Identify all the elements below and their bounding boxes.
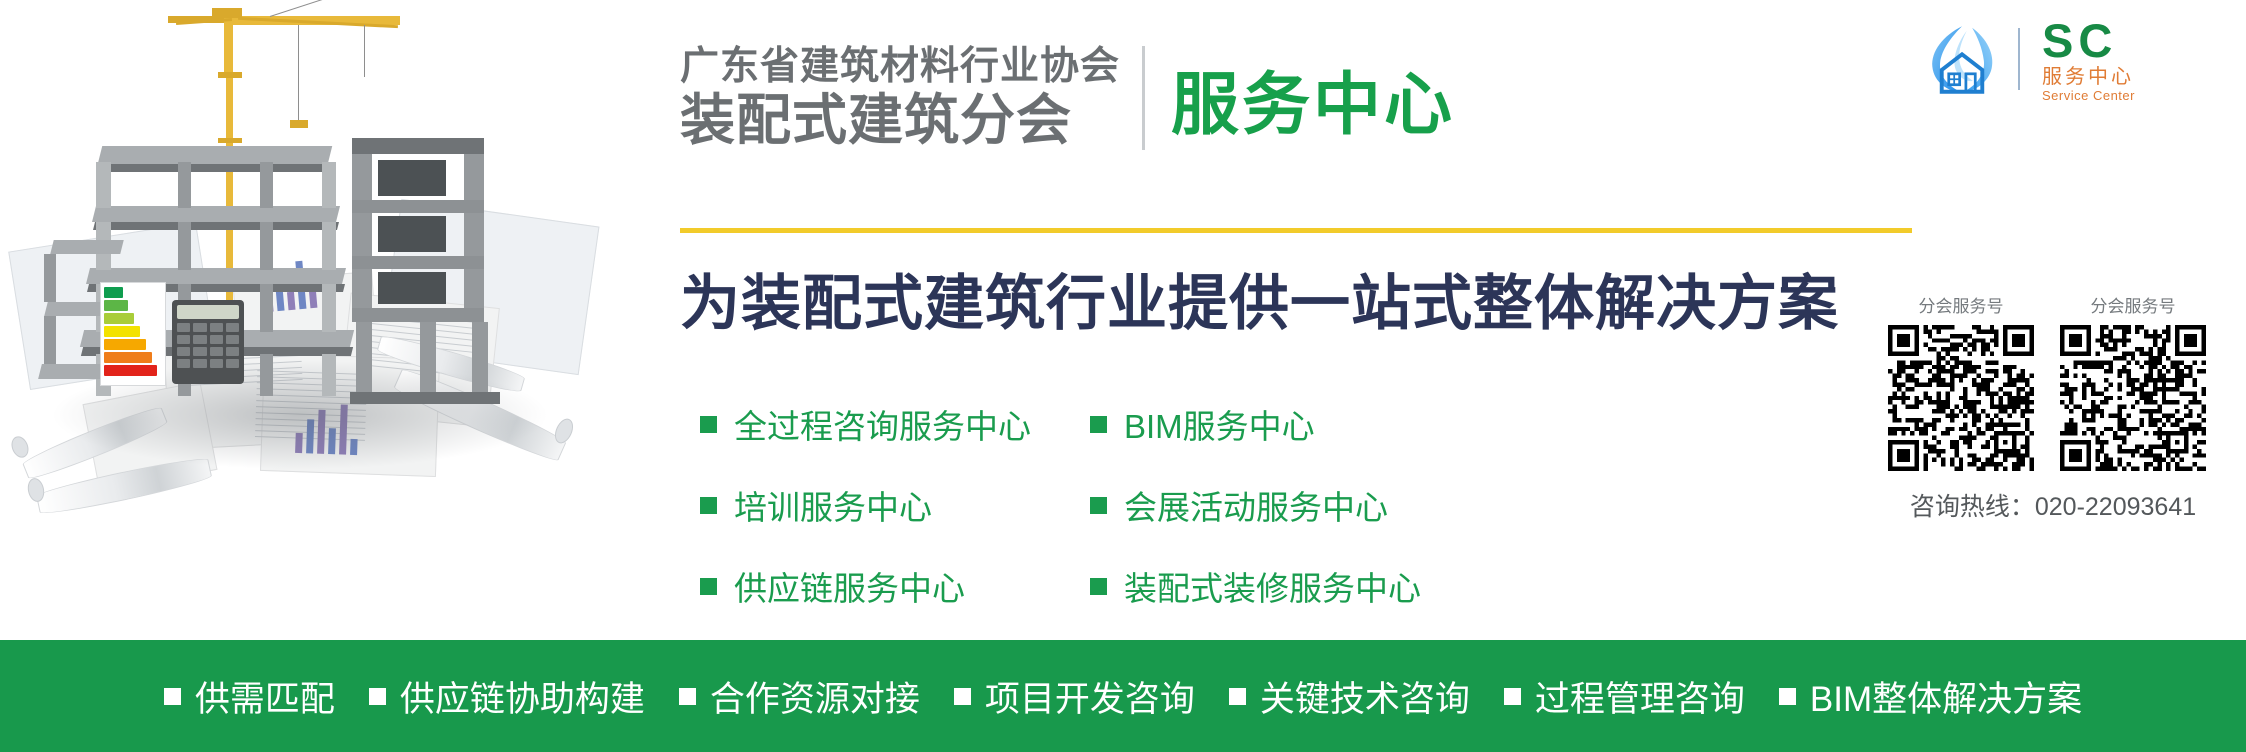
list-item[interactable]: 全过程咨询服务中心 bbox=[700, 400, 1090, 448]
qr-caption: 分会服务号 bbox=[2060, 292, 2206, 317]
list-item-label: 会展活动服务中心 bbox=[1124, 481, 1388, 529]
qr-block: 分会服务号 bbox=[2060, 292, 2206, 471]
list-item[interactable]: 供需匹配 bbox=[164, 671, 335, 722]
list-item-label: 全过程咨询服务中心 bbox=[734, 400, 1031, 448]
association-name-line1: 广东省建筑材料行业协会 bbox=[680, 47, 1120, 88]
service-list-left: 全过程咨询服务中心 培训服务中心 供应链服务中心 bbox=[700, 400, 1090, 610]
service-center-lists: 全过程咨询服务中心 培训服务中心 供应链服务中心 BIM服务中心 会展活动服务中… bbox=[700, 400, 1760, 610]
square-bullet-icon bbox=[164, 688, 181, 705]
list-item-label: 合作资源对接 bbox=[710, 671, 920, 722]
tag-row: 供需匹配 供应链协助构建 合作资源对接 项目开发咨询 关键技术咨询 过程管理咨询… bbox=[164, 671, 2082, 722]
list-item-label: BIM整体解决方案 bbox=[1810, 671, 2082, 722]
energy-rating-chart-icon bbox=[100, 282, 166, 386]
list-item[interactable]: 供应链服务中心 bbox=[700, 562, 1090, 610]
list-item-label: 过程管理咨询 bbox=[1535, 671, 1745, 722]
list-item-label: BIM服务中心 bbox=[1124, 400, 1315, 448]
square-bullet-icon bbox=[700, 578, 717, 595]
list-item-label: 供需匹配 bbox=[195, 671, 335, 722]
square-bullet-icon bbox=[954, 688, 971, 705]
square-bullet-icon bbox=[679, 688, 696, 705]
hotline-text: 咨询热线：020-22093641 bbox=[1888, 487, 2218, 523]
list-item-label: 供应链协助构建 bbox=[400, 671, 645, 722]
list-item[interactable]: 项目开发咨询 bbox=[954, 671, 1195, 722]
bottom-tag-bar: 供需匹配 供应链协助构建 合作资源对接 项目开发咨询 关键技术咨询 过程管理咨询… bbox=[0, 640, 2246, 752]
sc-logo-text: SC 服务中心 Service Center bbox=[2042, 17, 2135, 102]
sc-abbreviation: SC bbox=[2042, 17, 2135, 64]
square-bullet-icon bbox=[1779, 688, 1796, 705]
list-item-label: 供应链服务中心 bbox=[734, 562, 965, 610]
qr-section: 分会服务号 分会服务号 咨询热线：020-22093641 bbox=[1888, 292, 2218, 523]
list-item[interactable]: 过程管理咨询 bbox=[1504, 671, 1745, 722]
list-item-label: 关键技术咨询 bbox=[1260, 671, 1470, 722]
square-bullet-icon bbox=[700, 497, 717, 514]
square-bullet-icon bbox=[369, 688, 386, 705]
list-item-label: 项目开发咨询 bbox=[985, 671, 1195, 722]
list-item-label: 装配式装修服务中心 bbox=[1124, 562, 1421, 610]
banner-header: 广东省建筑材料行业协会 装配式建筑分会 服务中心 bbox=[680, 38, 1455, 158]
square-bullet-icon bbox=[1090, 416, 1107, 433]
list-item[interactable]: 供应链协助构建 bbox=[369, 671, 645, 722]
list-item[interactable]: BIM整体解决方案 bbox=[1779, 671, 2082, 722]
list-item[interactable]: 会展活动服务中心 bbox=[1090, 481, 1421, 529]
house-flame-icon bbox=[1922, 20, 2002, 98]
blueprint-roll-end bbox=[8, 434, 31, 460]
list-item[interactable]: 关键技术咨询 bbox=[1229, 671, 1470, 722]
square-bullet-icon bbox=[700, 416, 717, 433]
list-item[interactable]: BIM服务中心 bbox=[1090, 400, 1421, 448]
list-item-label: 培训服务中心 bbox=[734, 481, 932, 529]
logo-separator bbox=[2018, 28, 2020, 90]
hero-photo-collage bbox=[0, 0, 640, 640]
main-slogan: 为装配式建筑行业提供一站式整体解决方案 bbox=[680, 255, 1930, 342]
list-item[interactable]: 装配式装修服务中心 bbox=[1090, 562, 1421, 610]
square-bullet-icon bbox=[1504, 688, 1521, 705]
square-bullet-icon bbox=[1229, 688, 1246, 705]
sc-logo: SC 服务中心 Service Center bbox=[1922, 18, 2232, 100]
qr-caption: 分会服务号 bbox=[1888, 292, 2034, 317]
square-bullet-icon bbox=[1090, 578, 1107, 595]
qr-block: 分会服务号 bbox=[1888, 292, 2034, 471]
qr-code-icon[interactable] bbox=[2060, 325, 2206, 471]
yellow-divider-rule bbox=[680, 228, 1912, 233]
sc-name-en: Service Center bbox=[2042, 89, 2135, 102]
sc-name-cn: 服务中心 bbox=[2042, 67, 2135, 87]
list-item[interactable]: 合作资源对接 bbox=[679, 671, 920, 722]
calculator-icon bbox=[172, 300, 244, 384]
association-name: 广东省建筑材料行业协会 装配式建筑分会 bbox=[680, 47, 1120, 150]
qr-code-icon[interactable] bbox=[1888, 325, 2034, 471]
square-bullet-icon bbox=[1090, 497, 1107, 514]
header-divider bbox=[1142, 46, 1145, 150]
service-center-title: 服务中心 bbox=[1171, 49, 1455, 148]
service-list-right: BIM服务中心 会展活动服务中心 装配式装修服务中心 bbox=[1090, 400, 1421, 610]
qr-row: 分会服务号 分会服务号 bbox=[1888, 292, 2218, 471]
association-name-line2: 装配式建筑分会 bbox=[680, 92, 1120, 150]
list-item[interactable]: 培训服务中心 bbox=[700, 481, 1090, 529]
